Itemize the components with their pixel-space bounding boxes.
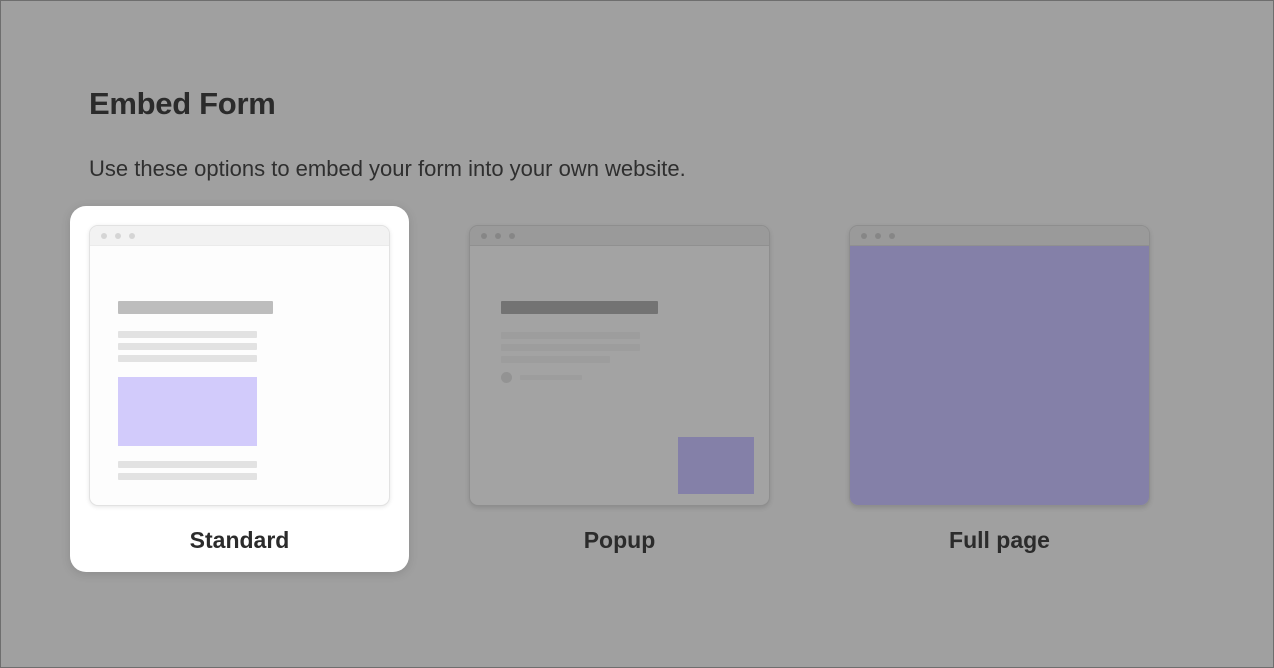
skeleton-text-line [118,473,257,480]
embed-option-standard[interactable]: Standard [70,206,409,572]
window-dot-icon [875,233,881,239]
window-dot-icon [889,233,895,239]
browser-body-standard [90,246,389,505]
option-label-fullpage: Full page [849,528,1150,553]
option-card-fullpage[interactable]: Full page [830,206,1169,572]
embed-option-fullpage[interactable]: Full page [830,206,1169,572]
page-subtitle: Use these options to embed your form int… [89,156,686,182]
page-title: Embed Form [89,87,275,121]
skeleton-caption-line [520,375,582,380]
skeleton-text-line [501,356,610,363]
window-dot-icon [481,233,487,239]
skeleton-heading-bar [118,301,273,314]
option-label-standard: Standard [89,528,390,553]
window-dot-icon [129,233,135,239]
browser-chrome-popup [470,226,769,246]
browser-preview-popup [469,225,770,506]
embed-option-list: Standard [1,206,1273,586]
skeleton-heading-bar [501,301,658,314]
window-dot-icon [861,233,867,239]
skeleton-text-line [501,332,640,339]
skeleton-text-line [118,343,257,350]
browser-preview-standard [89,225,390,506]
embed-option-popup[interactable]: Popup [450,206,789,572]
browser-body-popup [470,246,769,505]
skeleton-avatar-icon [501,372,512,383]
option-label-popup: Popup [469,528,770,553]
window-dot-icon [115,233,121,239]
window-dot-icon [509,233,515,239]
embedded-popup-block [678,437,754,494]
option-card-popup[interactable]: Popup [450,206,789,572]
window-dot-icon [101,233,107,239]
skeleton-text-line [118,331,257,338]
browser-chrome-standard [90,226,389,246]
skeleton-text-line [118,461,257,468]
embedded-form-block [118,377,257,446]
browser-body-fullpage [850,246,1149,505]
window-dot-icon [495,233,501,239]
skeleton-text-line [118,355,257,362]
browser-preview-fullpage [849,225,1150,506]
embed-form-page: Embed Form Use these options to embed yo… [1,1,1273,667]
embedded-fullpage-block [850,246,1149,505]
option-card-standard[interactable]: Standard [70,206,409,572]
browser-chrome-fullpage [850,226,1149,246]
skeleton-text-line [501,344,640,351]
